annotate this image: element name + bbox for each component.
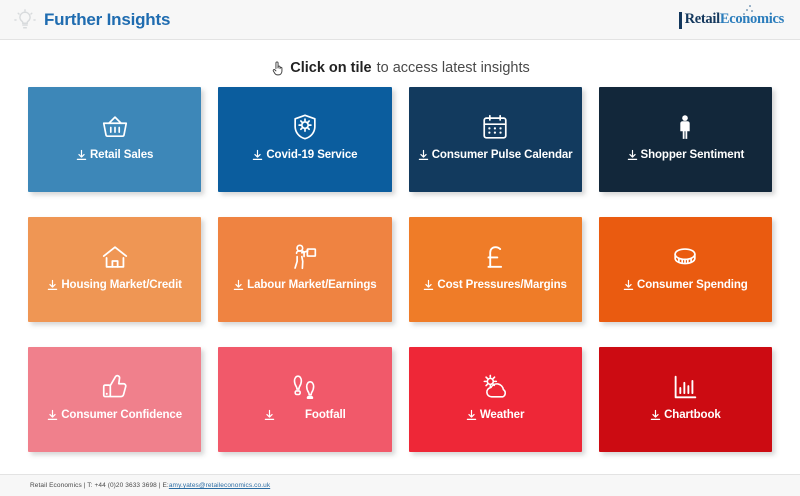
tile-label: Shopper Sentiment bbox=[641, 149, 745, 161]
person-icon bbox=[670, 112, 700, 142]
pound-sterling-icon bbox=[480, 242, 510, 272]
download-icon bbox=[650, 409, 661, 421]
shield-virus-icon bbox=[290, 112, 320, 142]
tile-housing-market-credit[interactable]: Housing Market/Credit bbox=[28, 217, 201, 322]
logo-bar bbox=[679, 12, 682, 29]
instruction-bar: Click on tile to access latest insights bbox=[0, 40, 800, 84]
download-icon bbox=[623, 279, 634, 291]
tile-consumer-pulse-calendar[interactable]: Consumer Pulse Calendar bbox=[409, 87, 582, 192]
sun-cloud-icon bbox=[480, 372, 510, 402]
tile-label: Housing Market/Credit bbox=[61, 279, 182, 291]
page-footer: Retail Economics | T: +44 (0)20 3633 369… bbox=[0, 474, 800, 496]
download-icon bbox=[627, 149, 638, 161]
tile-label: Cost Pressures/Margins bbox=[437, 279, 566, 291]
tile-consumer-spending[interactable]: Consumer Spending bbox=[599, 217, 772, 322]
download-icon bbox=[47, 279, 58, 291]
footprints-icon bbox=[290, 372, 320, 402]
download-icon bbox=[47, 409, 58, 421]
logo-dots-decoration bbox=[740, 4, 754, 16]
tile-chartbook[interactable]: Chartbook bbox=[599, 347, 772, 452]
tile-weather[interactable]: Weather bbox=[409, 347, 582, 452]
logo-text-retail: Retail bbox=[685, 11, 720, 27]
shopping-basket-icon bbox=[100, 112, 130, 142]
tile-labour-market-earnings[interactable]: Labour Market/Earnings bbox=[218, 217, 391, 322]
tile-label: Chartbook bbox=[664, 409, 721, 421]
download-icon bbox=[423, 279, 434, 291]
tile-covid-19-service[interactable]: Covid-19 Service bbox=[218, 87, 391, 192]
lightbulb-icon bbox=[14, 9, 36, 31]
download-icon bbox=[466, 409, 477, 421]
tile-label: Retail Sales bbox=[90, 149, 153, 161]
download-icon bbox=[252, 149, 263, 161]
tile-consumer-confidence[interactable]: Consumer Confidence bbox=[28, 347, 201, 452]
instruction-rest-text: to access latest insights bbox=[377, 61, 530, 76]
download-icon bbox=[76, 149, 87, 161]
page-title: Further Insights bbox=[44, 10, 170, 30]
tile-cost-pressures-margins[interactable]: Cost Pressures/Margins bbox=[409, 217, 582, 322]
footer-email-link[interactable]: amy.yates@retaileconomics.co.uk bbox=[169, 482, 270, 489]
worker-box-icon bbox=[290, 242, 320, 272]
tile-label: Consumer Confidence bbox=[61, 409, 182, 421]
instruction-bold-text: Click on tile bbox=[290, 61, 371, 76]
pointing-hand-icon bbox=[270, 60, 285, 77]
tile-retail-sales[interactable]: Retail Sales bbox=[28, 87, 201, 192]
app-header: Further Insights RetailEconomics bbox=[0, 0, 800, 40]
tile-label: Covid-19 Service bbox=[266, 149, 357, 161]
download-icon bbox=[264, 409, 275, 421]
calendar-icon bbox=[480, 112, 510, 142]
coin-icon bbox=[670, 242, 700, 272]
thumbs-up-icon bbox=[100, 372, 130, 402]
tile-label: Weather bbox=[480, 409, 524, 421]
tile-label: Labour Market/Earnings bbox=[247, 279, 376, 291]
tile-grid: Retail Sales Covid-19 Service bbox=[0, 84, 800, 452]
footer-contact-text: Retail Economics | T: +44 (0)20 3633 369… bbox=[30, 482, 169, 489]
tile-shopper-sentiment[interactable]: Shopper Sentiment bbox=[599, 87, 772, 192]
house-icon bbox=[100, 242, 130, 272]
download-icon bbox=[233, 279, 244, 291]
download-icon bbox=[418, 149, 429, 161]
bar-chart-icon bbox=[670, 372, 700, 402]
tile-label: Footfall bbox=[305, 409, 346, 421]
tile-label: Consumer Spending bbox=[637, 279, 748, 291]
tile-label: Consumer Pulse Calendar bbox=[432, 149, 573, 161]
retail-economics-logo: RetailEconomics bbox=[679, 0, 788, 40]
tile-footfall[interactable]: Footfall bbox=[218, 347, 391, 452]
